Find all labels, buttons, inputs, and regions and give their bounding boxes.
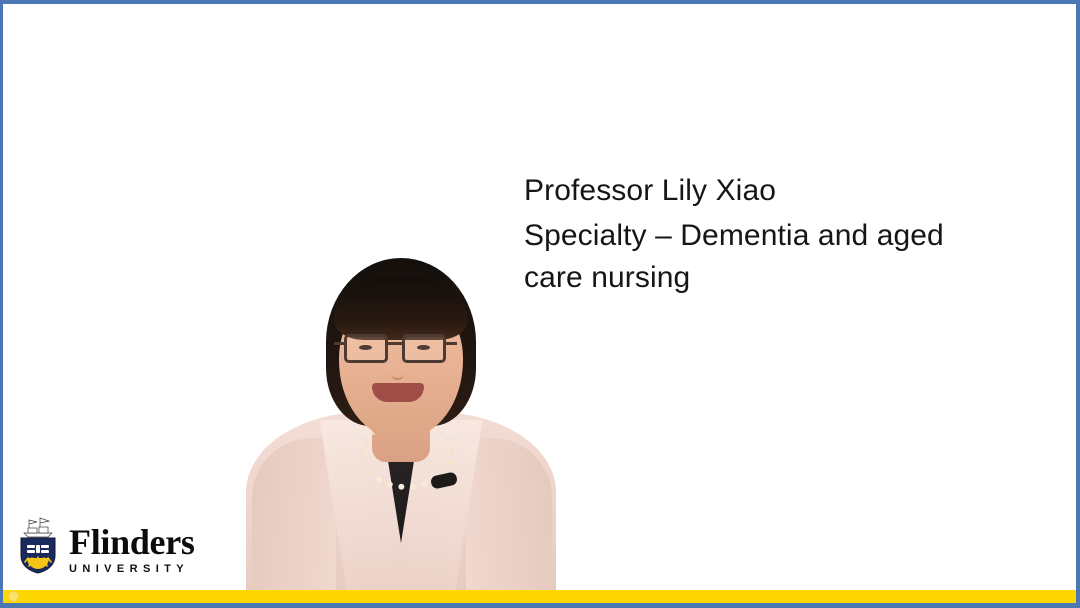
eyeglasses-lens-left bbox=[344, 334, 388, 363]
flinders-university-logo: Flinders UNIVERSITY bbox=[13, 516, 183, 578]
frame-border-bottom bbox=[0, 603, 1080, 608]
accent-bar-dot-icon bbox=[8, 591, 19, 602]
flinders-crest-icon bbox=[16, 516, 60, 574]
organisation-name: Flinders bbox=[69, 524, 195, 560]
frame-border-right bbox=[1076, 0, 1080, 608]
eyeglasses-bridge bbox=[388, 342, 402, 345]
slide-canvas: Professor Lily Xiao Specialty – Dementia… bbox=[3, 4, 1076, 603]
video-slide-frame: Professor Lily Xiao Specialty – Dementia… bbox=[0, 0, 1080, 608]
frame-border-top bbox=[0, 0, 1080, 4]
presenter-jacket-shade-left bbox=[252, 438, 336, 603]
brand-accent-bar bbox=[3, 590, 1076, 603]
presenter-mouth bbox=[372, 383, 424, 402]
eyeglasses-arm-right bbox=[446, 342, 457, 345]
presenter-jacket-shade-right bbox=[466, 438, 552, 603]
speaker-name: Professor Lily Xiao bbox=[524, 167, 1024, 215]
frame-border-left bbox=[0, 0, 3, 608]
flinders-wordmark: Flinders UNIVERSITY bbox=[69, 524, 195, 575]
organisation-subtitle: UNIVERSITY bbox=[69, 563, 195, 575]
presenter-nose bbox=[391, 364, 404, 380]
speaker-specialty: Specialty – Dementia and aged care nursi… bbox=[524, 215, 1002, 299]
presenter-portrait bbox=[246, 252, 556, 603]
speaker-text-block: Professor Lily Xiao Specialty – Dementia… bbox=[524, 167, 1024, 299]
eyeglasses-lens-right bbox=[402, 334, 446, 363]
